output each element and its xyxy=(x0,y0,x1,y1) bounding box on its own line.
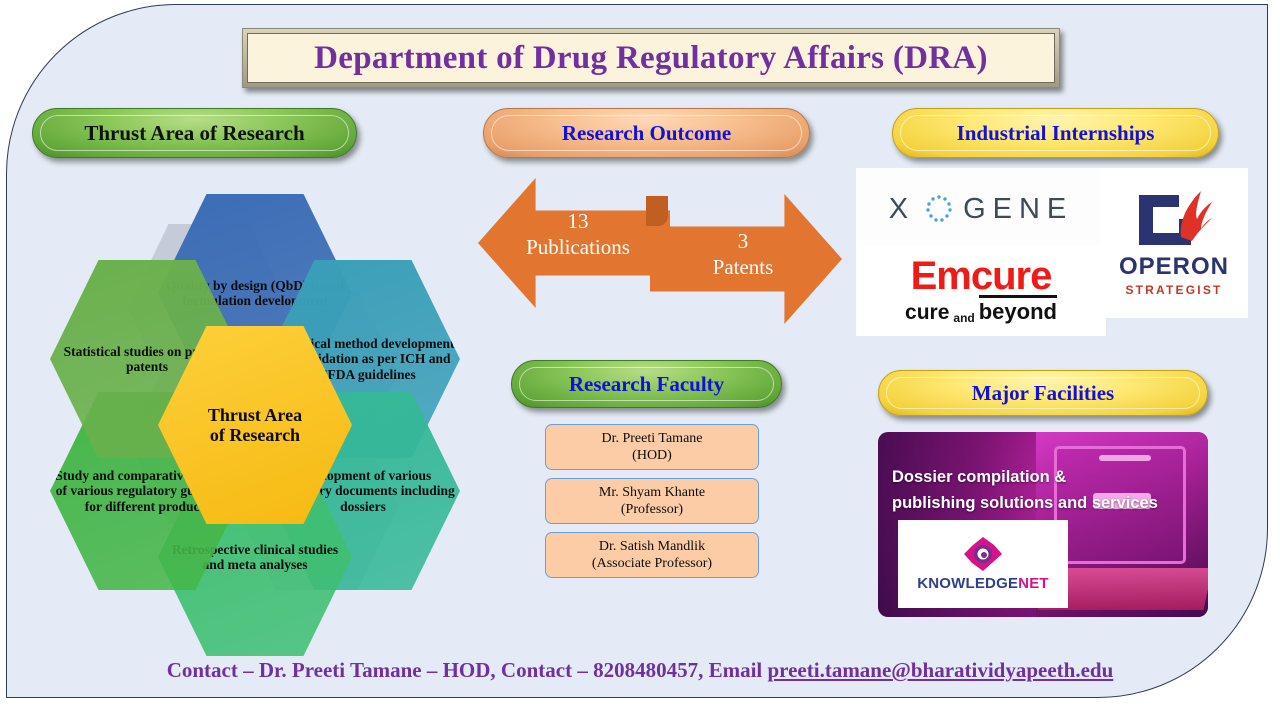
slide-root: Department of Drug Regulatory Affairs (D… xyxy=(0,0,1280,720)
emcure-tagline-and: and xyxy=(953,311,974,325)
operon-subtitle: STRATEGIST xyxy=(1125,283,1222,297)
internship-logos: X GENE Emcur xyxy=(848,168,1248,346)
publications-stat: 13 Publications xyxy=(508,208,648,261)
xogene-dotted-o-icon xyxy=(924,194,954,224)
xogene-logo: X GENE xyxy=(856,168,1106,250)
patents-stat: 3 Patents xyxy=(678,228,808,281)
header-major-facilities-label: Major Facilities xyxy=(972,381,1114,406)
knowledgenet-wordmark: KNOWLEDGENET xyxy=(917,575,1049,592)
faculty-role: (HOD) xyxy=(632,447,672,465)
faculty-name: Dr. Preeti Tamane xyxy=(601,430,702,448)
header-research-outcome-label: Research Outcome xyxy=(562,121,731,146)
xogene-letter-x: X xyxy=(889,193,915,226)
header-major-facilities[interactable]: Major Facilities xyxy=(878,370,1208,416)
faculty-role: (Professor) xyxy=(621,501,683,519)
xogene-wordmark: X GENE xyxy=(889,193,1074,226)
thrust-area-hexagon-cluster: Quality by design (QbD) based formulatio… xyxy=(20,160,490,630)
header-industrial-internships[interactable]: Industrial Internships xyxy=(892,108,1219,158)
contact-text: Contact – Dr. Preeti Tamane – HOD, Conta… xyxy=(167,658,768,682)
operon-flame-icon xyxy=(1135,189,1213,251)
facilities-caption-line1: Dossier compilation & xyxy=(892,468,1066,487)
research-outcome-arrows: 13 Publications 3 Patents xyxy=(478,172,842,324)
research-faculty-list: Dr. Preeti Tamane (HOD) Mr. Shyam Khante… xyxy=(545,424,757,586)
header-thrust-area-label: Thrust Area of Research xyxy=(84,121,304,146)
faculty-role: (Associate Professor) xyxy=(592,555,712,573)
emcure-tagline-cure: cure xyxy=(905,301,949,325)
contact-email-link[interactable]: preeti.tamane@bharatividyapeeth.edu xyxy=(767,658,1113,682)
emcure-logo: Emcure cure and beyond xyxy=(856,246,1106,336)
faculty-card[interactable]: Mr. Shyam Khante (Professor) xyxy=(545,478,759,524)
header-research-outcome[interactable]: Research Outcome xyxy=(483,108,810,158)
contact-footer: Contact – Dr. Preeti Tamane – HOD, Conta… xyxy=(0,658,1280,683)
emcure-wordmark: Emcure xyxy=(911,257,1052,295)
emcure-tagline-beyond: beyond xyxy=(979,295,1057,325)
knowledgenet-logo: KNOWLEDGENET xyxy=(898,520,1068,608)
header-thrust-area[interactable]: Thrust Area of Research xyxy=(32,108,357,158)
operon-strategist-logo: OPERON STRATEGIST xyxy=(1100,168,1248,318)
arrow-fold-icon xyxy=(646,196,668,226)
page-title-text: Department of Drug Regulatory Affairs (D… xyxy=(314,40,988,77)
machine-slot-icon xyxy=(1099,455,1151,461)
major-facilities-image: Dossier compilation & publishing solutio… xyxy=(878,432,1208,617)
faculty-name: Mr. Shyam Khante xyxy=(599,484,705,502)
faculty-name: Dr. Satish Mandlik xyxy=(599,538,705,556)
header-research-faculty[interactable]: Research Faculty xyxy=(511,360,782,408)
patents-count: 3 xyxy=(738,229,749,253)
header-research-faculty-label: Research Faculty xyxy=(569,372,724,397)
page-title: Department of Drug Regulatory Affairs (D… xyxy=(242,28,1060,88)
operon-wordmark: OPERON xyxy=(1119,253,1229,281)
title-inner-frame: Department of Drug Regulatory Affairs (D… xyxy=(247,33,1055,83)
publications-count: 13 xyxy=(568,209,589,233)
knowledgenet-swirl-icon xyxy=(963,536,1003,572)
faculty-card[interactable]: Dr. Preeti Tamane (HOD) xyxy=(545,424,759,470)
header-industrial-internships-label: Industrial Internships xyxy=(957,121,1155,146)
knowledgenet-part1: KNOWLEDGE xyxy=(917,575,1018,592)
emcure-tagline: cure and beyond xyxy=(905,295,1057,325)
patents-label: Patents xyxy=(713,255,774,279)
facilities-caption-line2: publishing solutions and services xyxy=(892,494,1158,513)
publications-label: Publications xyxy=(526,235,630,259)
xogene-letters-gene: GENE xyxy=(963,193,1073,226)
knowledgenet-part2: NET xyxy=(1018,575,1049,592)
faculty-card[interactable]: Dr. Satish Mandlik (Associate Professor) xyxy=(545,532,759,578)
hex-center-label: Thrust Areaof Research xyxy=(208,405,302,445)
